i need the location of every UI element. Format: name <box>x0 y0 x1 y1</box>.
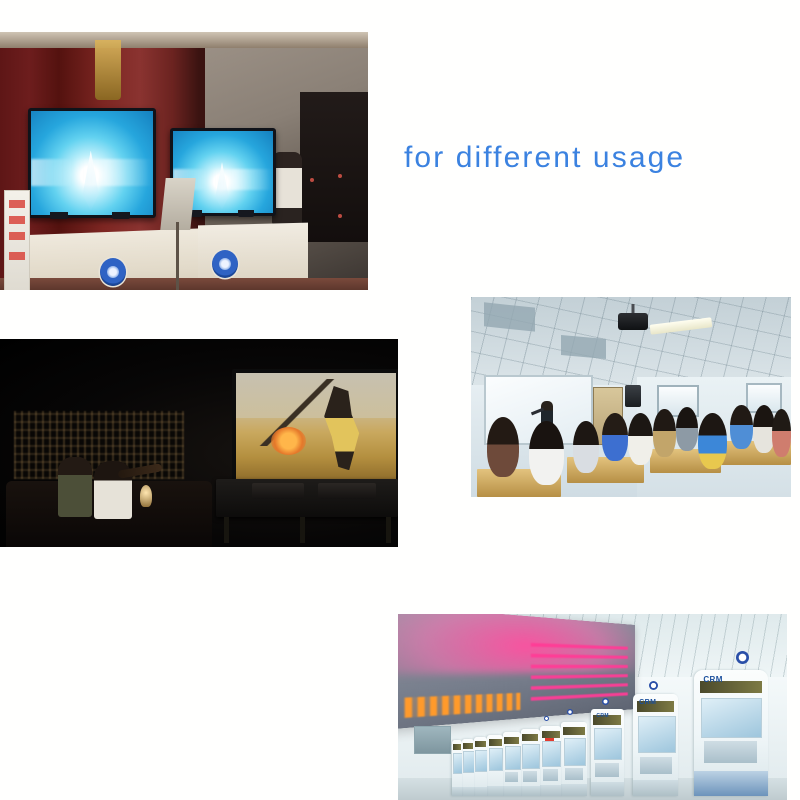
student-figure <box>487 417 519 477</box>
student-figure <box>772 409 791 457</box>
collage-canvas: for different usage <box>0 0 800 800</box>
bank-atm-hall-photo: CRM CRM CRM <box>398 614 787 800</box>
student-figure <box>628 413 654 465</box>
showroom-dark-panel <box>300 92 368 242</box>
viewer-person-left <box>58 457 92 517</box>
atm-machine <box>503 732 521 796</box>
screen-flame <box>271 427 306 455</box>
tv-screen-left <box>28 108 156 218</box>
showroom-brochure-stand <box>4 190 30 290</box>
showroom-stand-pole <box>176 222 179 290</box>
student-figure <box>573 421 599 473</box>
console-box <box>318 483 376 499</box>
student-figure <box>602 413 628 461</box>
table-lamp <box>140 485 152 507</box>
wall-control-panel <box>414 726 451 754</box>
student-figure <box>676 407 698 451</box>
av-receiver <box>252 483 304 499</box>
showroom-tv-display-photo <box>0 32 368 290</box>
atm-machine <box>521 729 540 796</box>
atm-machine <box>487 735 503 796</box>
cabinet-leg <box>386 517 391 543</box>
tv-stand <box>112 212 130 219</box>
student-figure <box>730 405 752 449</box>
wall-speaker <box>625 385 641 407</box>
ge-logo-icon <box>100 258 126 286</box>
screen-content <box>236 373 396 481</box>
student-figure <box>698 413 727 469</box>
showroom-gold-column <box>95 40 121 100</box>
classroom-projector-photo <box>471 297 791 497</box>
showroom-ceiling <box>0 32 368 48</box>
crm-brand-label: CRM <box>596 713 609 719</box>
atm-machine <box>633 694 678 796</box>
indicator-dot <box>310 178 314 182</box>
indicator-dot <box>338 214 342 218</box>
atm-machine <box>474 737 488 797</box>
showroom-floor <box>0 278 368 290</box>
atm-machine <box>591 709 624 796</box>
atm-machine <box>540 726 561 797</box>
cabinet-leg <box>300 517 305 543</box>
atm-machine <box>561 722 586 796</box>
crm-brand-label: CRM <box>703 675 722 684</box>
atm-machine <box>462 739 474 797</box>
tv-stand <box>50 212 68 219</box>
tv-screen-content <box>31 111 153 215</box>
led-sign-orange-text <box>405 693 520 718</box>
tv-stand <box>238 210 254 217</box>
cabinet-leg <box>224 517 229 543</box>
indicator-dot <box>338 174 342 178</box>
ceiling-projector <box>618 313 648 330</box>
queue-number-badge <box>602 698 609 705</box>
showroom-visitor <box>272 152 302 224</box>
atm-machine <box>694 670 768 796</box>
queue-number-badge <box>649 681 658 690</box>
page-title: for different usage <box>404 140 796 176</box>
ceiling-tile <box>561 335 606 359</box>
projection-screen <box>232 369 398 485</box>
led-sign-text <box>531 639 628 701</box>
home-theater-photo <box>0 339 398 547</box>
atm-machine <box>452 740 463 796</box>
student-figure <box>653 409 675 457</box>
ge-logo-icon <box>212 250 238 278</box>
student-figure <box>529 421 564 485</box>
crm-brand-label: CRM <box>639 699 656 706</box>
